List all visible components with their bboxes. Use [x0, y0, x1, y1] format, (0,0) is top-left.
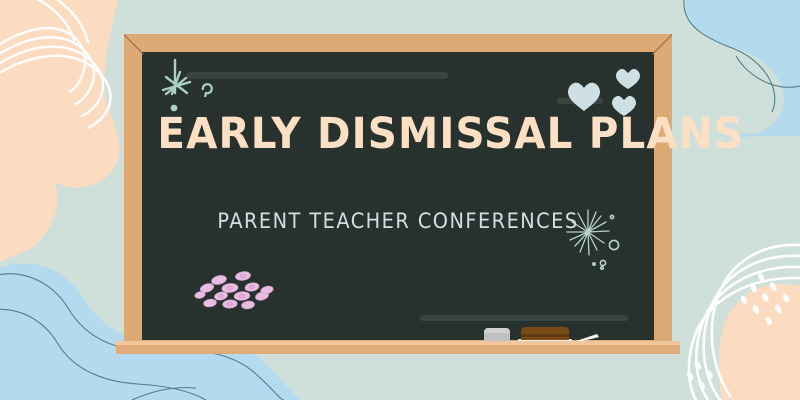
board-decorations [0, 0, 800, 400]
poster-canvas: EARLY DISMISSAL PLANS PARENT TEACHER CON… [0, 0, 800, 400]
pink-blob-cluster-icon [194, 271, 274, 310]
chalk-ring-icon [203, 84, 212, 97]
page-title: EARLY DISMISSAL PLANS [157, 113, 638, 156]
eraser-stripe [521, 334, 569, 337]
sparkle-burst-icon [163, 60, 190, 94]
page-subtitle: PARENT TEACHER CONFERENCES [162, 211, 633, 232]
chalk-block-top [484, 328, 510, 333]
chalkboard-shelf-lip [116, 341, 680, 345]
